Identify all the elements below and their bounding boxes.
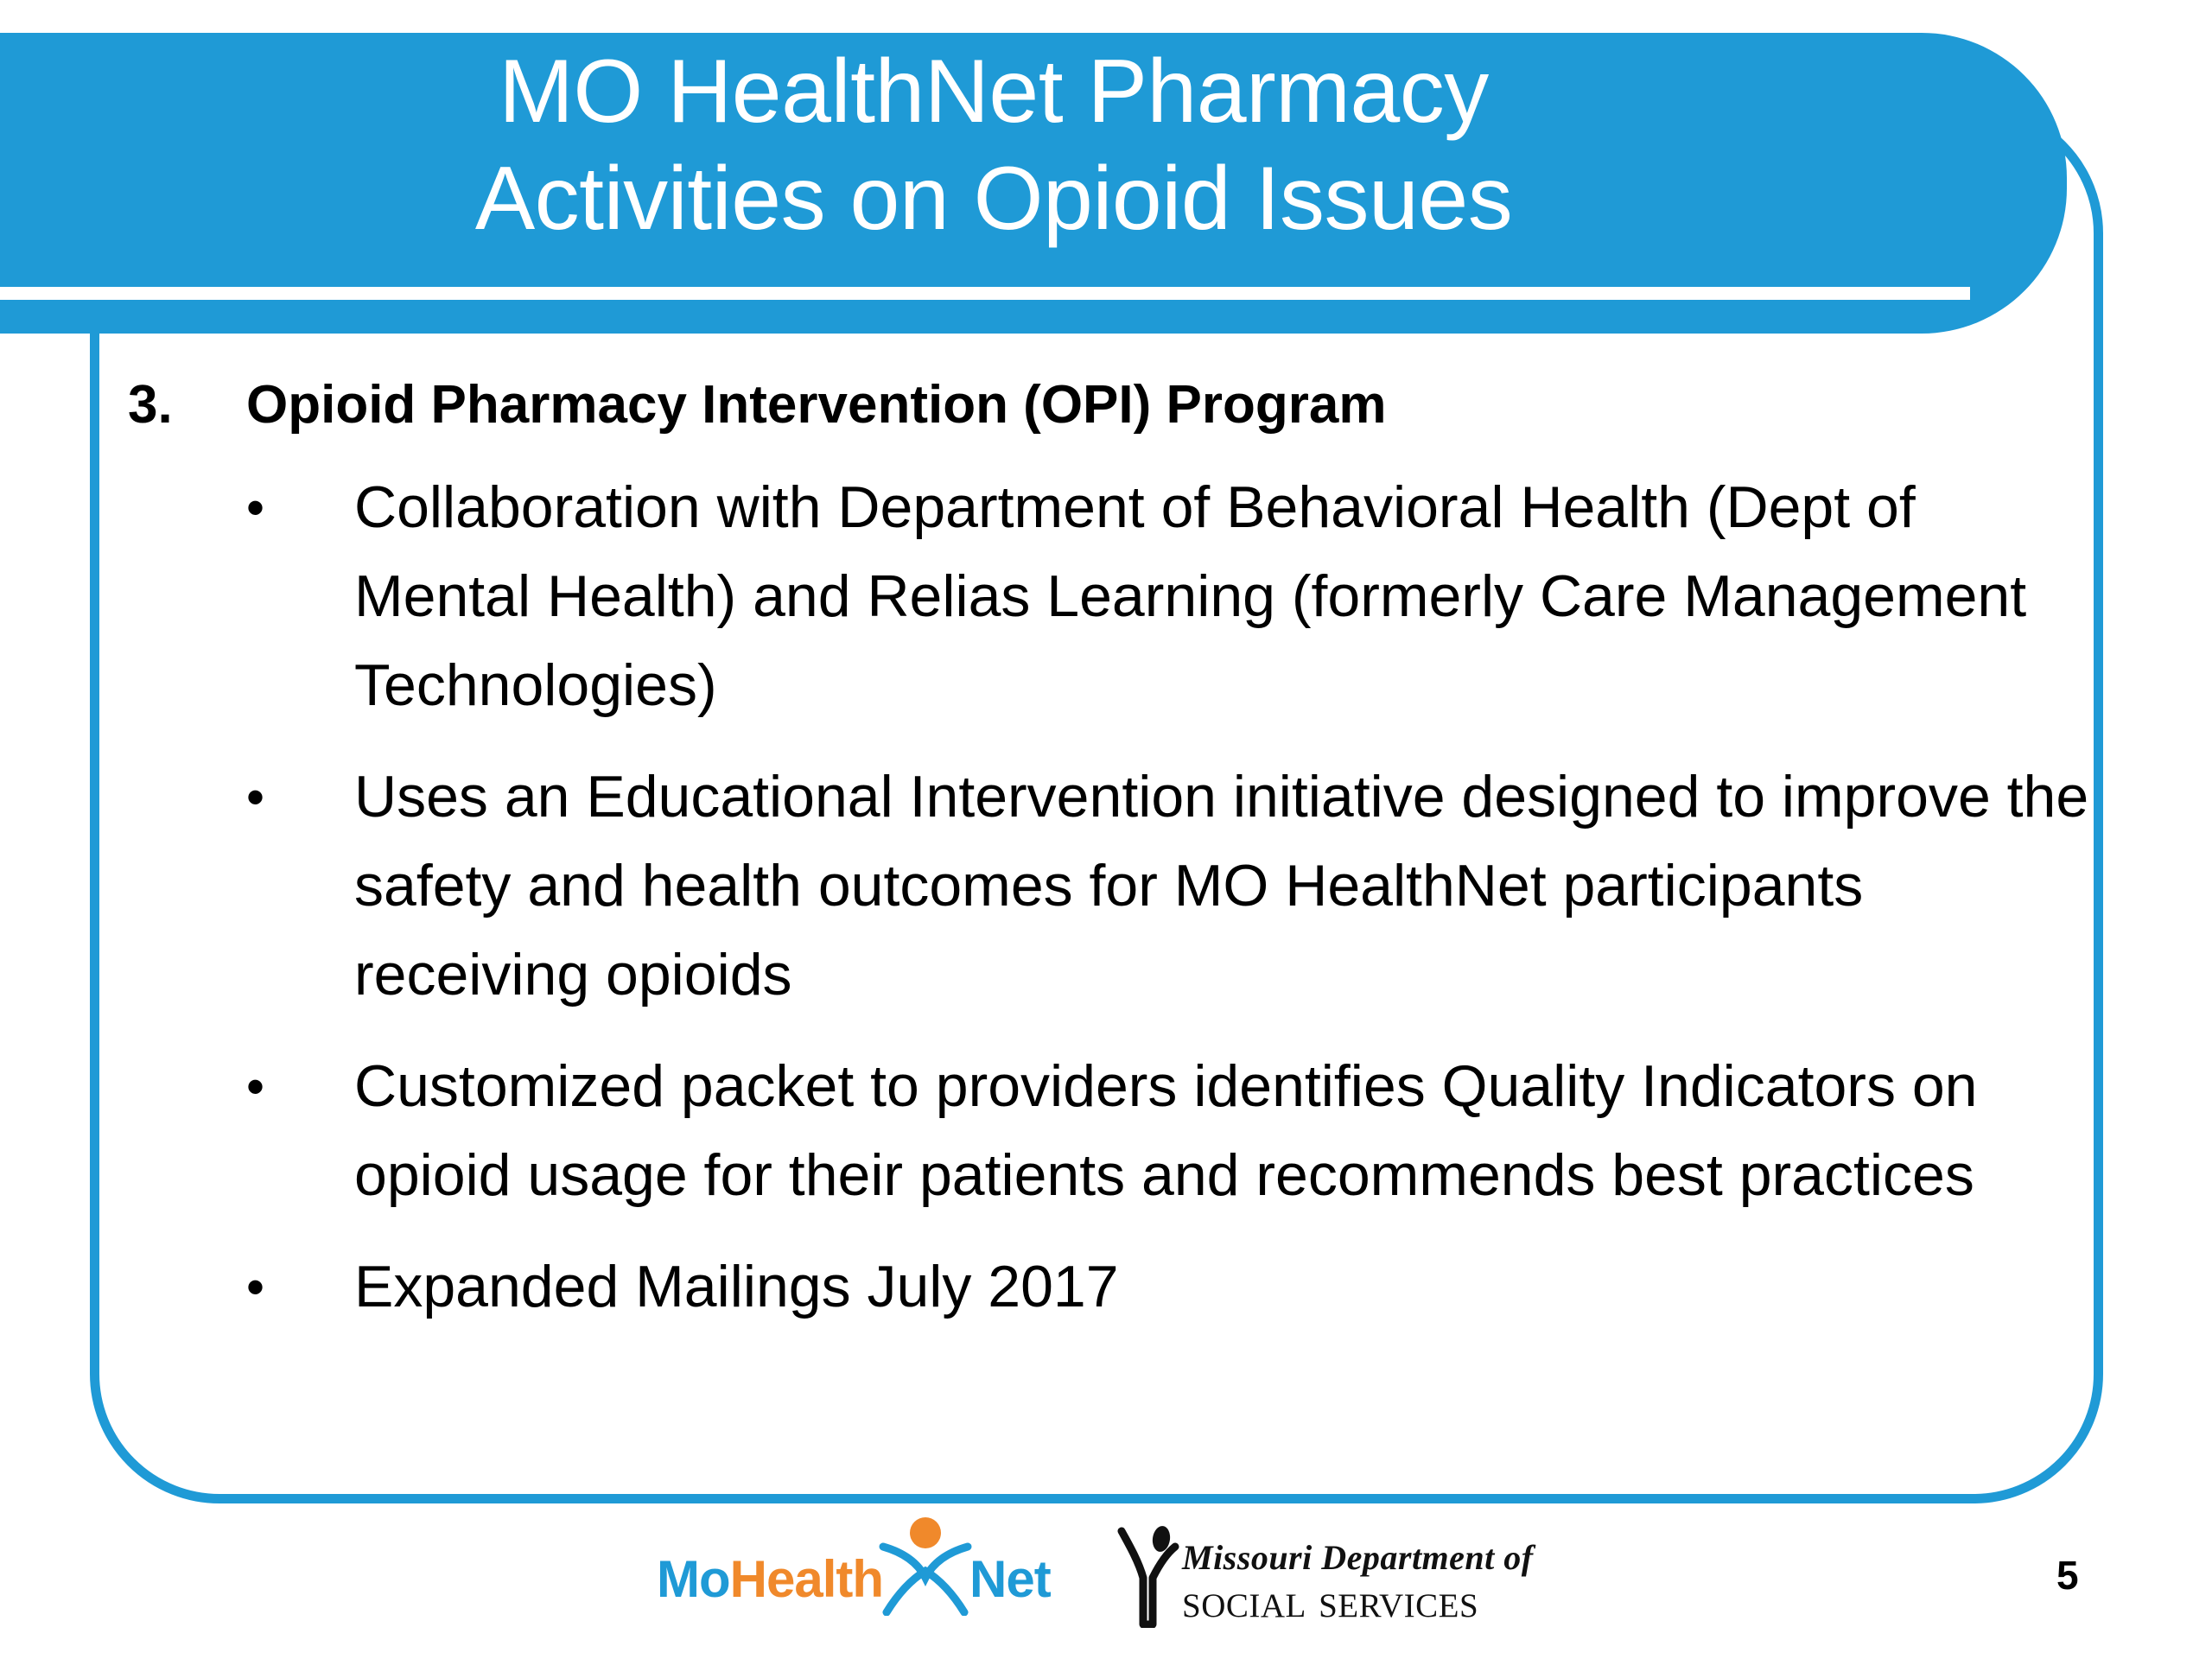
social-services-line2: Social Services — [1182, 1576, 1534, 1626]
slide-footer: Mo Health Net Missouri Departmen — [0, 1521, 2212, 1659]
mohealthnet-logo-health: Health — [730, 1554, 883, 1605]
page-title: MO HealthNet Pharmacy Activities on Opio… — [0, 38, 1987, 252]
list-item-text: Expanded Mailings July 2017 — [354, 1243, 2091, 1332]
numbered-marker: 3. — [128, 372, 246, 439]
social-services-line1: Missouri Department of — [1182, 1540, 1534, 1576]
slide: MO HealthNet Pharmacy Activities on Opio… — [0, 0, 2212, 1659]
bullet-list: • Collaboration with Department of Behav… — [0, 463, 2160, 1332]
person-figure-icon — [874, 1516, 976, 1616]
person-figure-icon — [1116, 1524, 1180, 1628]
list-item-text: Customized packet to providers identifie… — [354, 1042, 2091, 1220]
bullet-icon: • — [246, 1042, 354, 1131]
numbered-heading: Opioid Pharmacy Intervention (OPI) Progr… — [246, 372, 1386, 439]
list-item: • Collaboration with Department of Behav… — [0, 463, 2160, 730]
list-item: • Customized packet to providers identif… — [0, 1042, 2160, 1220]
bullet-icon: • — [246, 463, 354, 552]
mohealthnet-logo-mo: Mo — [657, 1554, 730, 1605]
mohealthnet-logo: Mo Health Net — [657, 1528, 1051, 1631]
title-underline — [0, 287, 1970, 300]
social-services-wordmark: Missouri Department of Social Services — [1182, 1524, 1534, 1626]
slide-body: 3. Opioid Pharmacy Intervention (OPI) Pr… — [0, 372, 2160, 1354]
list-item-text: Uses an Educational Intervention initiat… — [354, 753, 2091, 1020]
list-item: • Uses an Educational Intervention initi… — [0, 753, 2160, 1020]
numbered-item-3: 3. Opioid Pharmacy Intervention (OPI) Pr… — [0, 372, 2160, 439]
social-services-logo: Missouri Department of Social Services — [1116, 1524, 1534, 1628]
title-banner: MO HealthNet Pharmacy Activities on Opio… — [0, 33, 2067, 334]
page-number: 5 — [2056, 1555, 2079, 1595]
bullet-icon: • — [246, 753, 354, 842]
mohealthnet-logo-net: Net — [969, 1554, 1051, 1605]
bullet-icon: • — [246, 1243, 354, 1332]
list-item-text: Collaboration with Department of Behavio… — [354, 463, 2091, 730]
list-item: • Expanded Mailings July 2017 — [0, 1243, 2160, 1332]
